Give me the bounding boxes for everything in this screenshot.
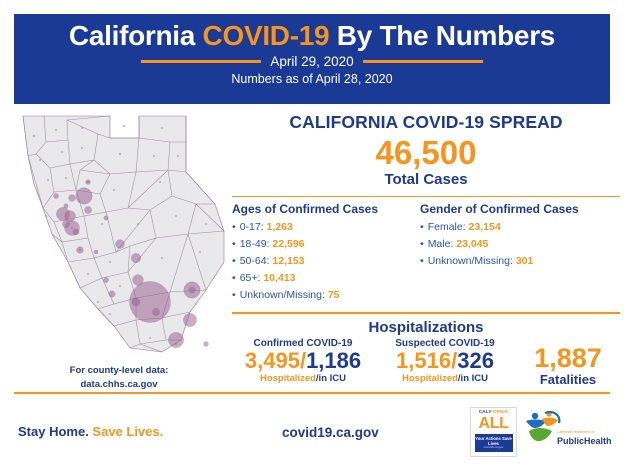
list-item: Male: 23,045: [420, 236, 620, 253]
county-note-line1: For county-level data:: [14, 364, 224, 378]
gender-value-1: 23,045: [456, 238, 488, 250]
ages-label-1: 18-49:: [240, 238, 273, 250]
logo-ca-cali: CALI: [479, 409, 490, 414]
page-title: California COVID-19 By The Numbers: [69, 21, 555, 50]
header-rule-left: [141, 60, 261, 63]
header-rule-right: [363, 60, 483, 63]
gender-label-2: Unknown/Missing:: [428, 255, 516, 267]
confirmed-icu-value: 1,186: [306, 348, 361, 373]
ages-label-3: 65+:: [240, 272, 264, 284]
ages-value-3: 10,413: [263, 272, 295, 284]
gender-column: Gender of Confirmed Cases Female: 23,154…: [420, 202, 620, 304]
list-item: 0-17: 1,263: [232, 219, 420, 236]
hospitalizations-heading: Hospitalizations: [232, 319, 620, 336]
website-link[interactable]: covid19.ca.gov: [282, 425, 379, 440]
logo-ca-subbox-line2: covid19.ca.gov: [475, 446, 513, 450]
divider-rule-1: [232, 196, 620, 198]
header-date-row: April 29, 2020: [14, 54, 610, 69]
suspected-icu-value: 326: [457, 348, 494, 373]
suspected-sub-hospitalized: Hospitalized: [402, 373, 458, 384]
ages-label-4: Unknown/Missing:: [240, 289, 328, 301]
logo-ca-wordmark: CALIFORNIA: [479, 410, 508, 415]
gender-value-0: 23,154: [469, 221, 501, 233]
suspected-covid-block: Suspected COVID-19 1,516/326 Hospitalize…: [374, 338, 516, 385]
tagline-save-lives: Save Lives.: [89, 424, 163, 439]
gender-value-2: 301: [516, 255, 534, 267]
fatalities-value: 1,887: [516, 344, 620, 372]
total-cases-label: Total Cases: [232, 171, 620, 188]
gender-label-1: Male:: [428, 238, 457, 250]
ages-list: 0-17: 1,263 18-49: 22,596 50-64: 12,153 …: [232, 219, 420, 304]
logo-ph-line2: PublicHealth: [557, 437, 612, 446]
footer-divider: [14, 392, 610, 394]
logo-ca-subbox: Your Actions Save Lives covid19.ca.gov: [475, 434, 513, 452]
spread-title: CALIFORNIA COVID-19 SPREAD: [232, 112, 620, 133]
county-data-link[interactable]: data.chhs.ca.gov: [14, 378, 224, 392]
gender-list: Female: 23,154 Male: 23,045 Unknown/Miss…: [420, 219, 620, 270]
list-item: Female: 23,154: [420, 219, 620, 236]
confirmed-covid-block: Confirmed COVID-19 3,495/1,186 Hospitali…: [232, 338, 374, 385]
california-all-logo: CALIFORNIA ALL Your Actions Save Lives c…: [470, 407, 517, 457]
suspected-numbers: 1,516/326: [374, 349, 516, 374]
confirmed-hospitalized-value: 3,495: [245, 348, 300, 373]
ages-value-1: 22,596: [272, 238, 304, 250]
list-item: Unknown/Missing: 75: [232, 287, 420, 304]
title-pre: California: [69, 20, 203, 51]
fatalities-block: 1,887 Fatalities: [516, 338, 620, 387]
header-date: April 29, 2020: [270, 54, 353, 69]
list-item: 65+: 10,413: [232, 270, 420, 287]
ages-heading: Ages of Confirmed Cases: [232, 202, 420, 216]
confirmed-numbers: 3,495/1,186: [232, 349, 374, 374]
tagline-stay-home: Stay Home.: [18, 424, 89, 439]
title-post: By The Numbers: [329, 20, 555, 51]
ages-value-4: 75: [328, 289, 340, 301]
suspected-sublabel: Hospitalized/in ICU: [374, 373, 516, 384]
logo-ca-all-text: ALL: [479, 416, 509, 432]
county-data-note: For county-level data: data.chhs.ca.gov: [14, 364, 224, 392]
list-item: 18-49: 22,596: [232, 236, 420, 253]
gender-heading: Gender of Confirmed Cases: [420, 202, 620, 216]
tagline: Stay Home. Save Lives.: [18, 424, 163, 439]
ages-label-0: 0-17:: [240, 221, 267, 233]
demographics-row: Ages of Confirmed Cases 0-17: 1,263 18-4…: [232, 202, 620, 304]
header-banner: California COVID-19 By The Numbers April…: [14, 14, 610, 104]
fatalities-label: Fatalities: [516, 372, 620, 387]
california-map: [10, 112, 228, 362]
logo-ph-line1: California Department of: [557, 431, 594, 435]
confirmed-sub-hospitalized: Hospitalized: [260, 373, 316, 384]
title-highlight: COVID-19: [203, 20, 330, 51]
hospitalizations-row: Confirmed COVID-19 3,495/1,186 Hospitali…: [232, 338, 620, 387]
divider-rule-2: [232, 312, 620, 314]
gender-label-0: Female:: [428, 221, 469, 233]
suspected-sub-icu: /in ICU: [458, 373, 488, 384]
ages-column: Ages of Confirmed Cases 0-17: 1,263 18-4…: [232, 202, 420, 304]
total-cases-value: 46,500: [232, 135, 620, 171]
suspected-hospitalized-value: 1,516: [396, 348, 451, 373]
public-health-logo: California Department of PublicHealth: [521, 407, 595, 457]
list-item: Unknown/Missing: 301: [420, 253, 620, 270]
confirmed-sublabel: Hospitalized/in ICU: [232, 373, 374, 384]
logo-ca-fornia: FORNIA: [490, 409, 508, 414]
stats-panel: CALIFORNIA COVID-19 SPREAD 46,500 Total …: [232, 112, 620, 387]
ages-value-0: 1,263: [267, 221, 293, 233]
ages-value-2: 12,153: [272, 255, 304, 267]
ages-label-2: 50-64:: [240, 255, 273, 267]
header-subtitle: Numbers as of April 28, 2020: [231, 72, 392, 86]
confirmed-sub-icu: /in ICU: [316, 373, 346, 384]
list-item: 50-64: 12,153: [232, 253, 420, 270]
